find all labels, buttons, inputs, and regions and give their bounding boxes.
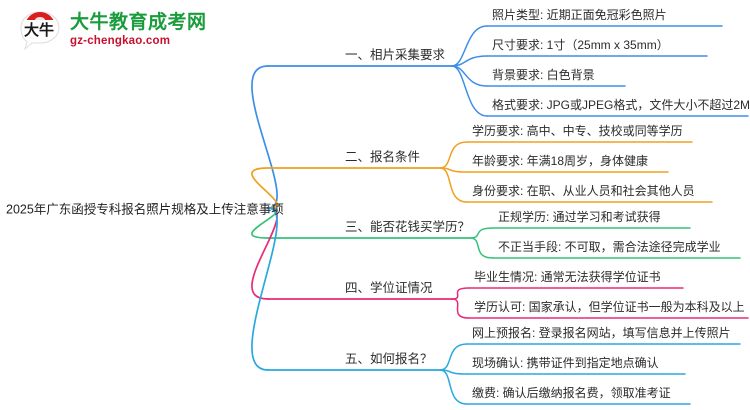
mindmap-leaf-5-1[interactable]: 网上预报名: 登录报名网站，填写信息并上传照片 <box>472 324 731 344</box>
mindmap-leaf-1-2[interactable]: 尺寸要求: 1寸（25mm x 35mm） <box>492 36 669 56</box>
mindmap-leaf-1-3[interactable]: 背景要求: 白色背景 <box>492 66 595 86</box>
connector-line <box>440 370 467 404</box>
mindmap-leaf-2-2[interactable]: 年龄要求: 年满18周岁，身体健康 <box>472 152 648 172</box>
mindmap-branch-3[interactable]: 三、能否花钱买学历？ <box>345 216 470 238</box>
mindmap-leaf-5-3[interactable]: 缴费: 确认后缴纳报名费，领取准考证 <box>472 384 671 404</box>
connector-line <box>440 344 467 370</box>
mindmap-root-node[interactable]: 2025年广东函授专科报名照片规格及上传注意事项 <box>6 199 284 218</box>
mindmap-leaf-4-1[interactable]: 毕业生情况: 通常无法获得学位证书 <box>474 268 661 288</box>
mindmap-leaf-2-1[interactable]: 学历要求: 高中、中专、技校或同等学历 <box>472 122 683 142</box>
mindmap-branch-1[interactable]: 一、相片采集要求 <box>345 44 445 66</box>
mindmap-branch-5[interactable]: 五、如何报名？ <box>345 348 433 370</box>
connector-line <box>440 142 467 168</box>
mindmap-branch-2[interactable]: 二、报名条件 <box>345 146 420 168</box>
connector-line <box>470 238 493 258</box>
mindmap-leaf-5-2[interactable]: 现场确认: 携带证件到指定地点确认 <box>472 354 659 374</box>
connector-line <box>252 66 277 208</box>
mindmap-leaf-2-3[interactable]: 身份要求: 在职、从业人员和社会其他人员 <box>472 182 695 202</box>
connector-line <box>440 168 467 202</box>
mindmap-leaf-1-4[interactable]: 格式要求: JPG或JPEG格式，文件大小不超过2MB <box>492 96 750 116</box>
connector-line <box>470 228 493 238</box>
mindmap-leaf-4-2[interactable]: 学历认可: 国家承认，但学位证书一般为本科及以上 <box>474 298 745 318</box>
mindmap-leaf-1-1[interactable]: 照片类型: 近期正面免冠彩色照片 <box>492 6 667 26</box>
mindmap-leaf-3-1[interactable]: 正规学历: 通过学习和考试获得 <box>498 208 661 228</box>
mindmap-canvas: 2025年广东函授专科报名照片规格及上传注意事项一、相片采集要求照片类型: 近期… <box>0 0 750 410</box>
mindmap-branch-4[interactable]: 四、学位证情况 <box>345 277 433 299</box>
connector-line <box>452 66 487 116</box>
mindmap-leaf-3-2[interactable]: 不正当手段: 不可取，需合法途径完成学业 <box>498 238 721 258</box>
connector-line <box>452 299 469 318</box>
connector-line <box>452 288 469 299</box>
